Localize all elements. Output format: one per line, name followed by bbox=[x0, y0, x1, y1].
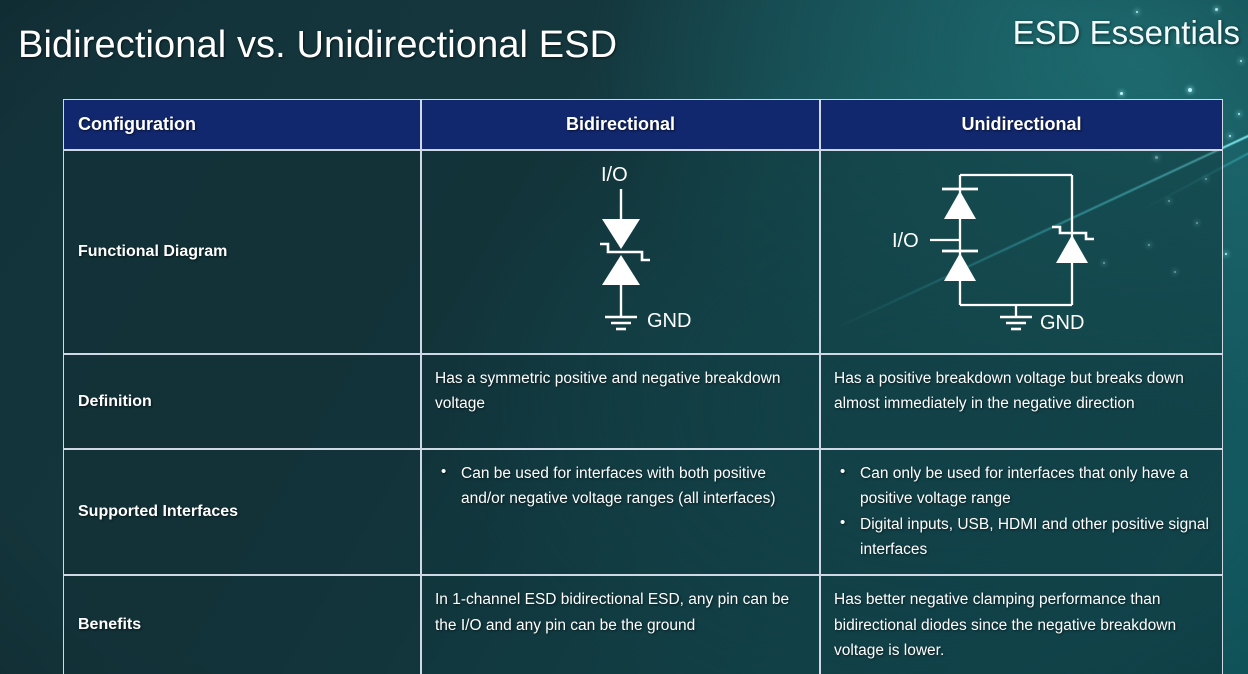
table-row: Benefits In 1-channel ESD bidirectional … bbox=[63, 575, 1223, 674]
row-label-functional-diagram: Functional Diagram bbox=[63, 150, 421, 354]
column-header-unidirectional: Unidirectional bbox=[820, 99, 1223, 150]
list-item: Can only be used for interfaces that onl… bbox=[834, 461, 1209, 511]
table-row: Supported Interfaces Can be used for int… bbox=[63, 449, 1223, 575]
comparison-table: Configuration Bidirectional Unidirection… bbox=[63, 99, 1223, 663]
cell-definition-bidirectional: Has a symmetric positive and negative br… bbox=[421, 354, 820, 449]
gnd-label-unidirectional: GND bbox=[1040, 312, 1084, 334]
column-header-bidirectional: Bidirectional bbox=[421, 99, 820, 150]
star-dot-icon bbox=[1229, 135, 1231, 137]
star-dot-icon bbox=[1238, 113, 1240, 115]
cell-benefits-bidirectional: In 1-channel ESD bidirectional ESD, any … bbox=[421, 575, 820, 674]
gnd-label-bidirectional: GND bbox=[647, 310, 691, 332]
unidirectional-rail-clamp-diagram: I/O bbox=[882, 157, 1162, 347]
row-label-supported-interfaces: Supported Interfaces bbox=[63, 449, 421, 575]
cell-supported-interfaces-bidirectional: Can be used for interfaces with both pos… bbox=[421, 449, 820, 575]
cell-supported-interfaces-unidirectional: Can only be used for interfaces that onl… bbox=[820, 449, 1223, 575]
slide-header: Bidirectional vs. Unidirectional ESD ESD… bbox=[0, 0, 1248, 92]
cell-unidirectional-diagram: I/O bbox=[820, 150, 1223, 354]
list-item: Digital inputs, USB, HDMI and other posi… bbox=[834, 512, 1209, 562]
bullet-list: Can be used for interfaces with both pos… bbox=[435, 461, 806, 511]
star-dot-icon bbox=[1120, 92, 1123, 95]
cell-definition-unidirectional: Has a positive breakdown voltage but bre… bbox=[820, 354, 1223, 449]
io-label-unidirectional: I/O bbox=[892, 230, 919, 252]
row-label-definition: Definition bbox=[63, 354, 421, 449]
star-dot-icon bbox=[1225, 253, 1227, 255]
table-row: Functional Diagram I/O bbox=[63, 150, 1223, 354]
brand-label: ESD Essentials bbox=[1013, 14, 1240, 52]
io-label-bidirectional: I/O bbox=[601, 164, 628, 186]
cell-benefits-unidirectional: Has better negative clamping performance… bbox=[820, 575, 1223, 674]
cell-bidirectional-diagram: I/O bbox=[421, 150, 820, 354]
column-header-configuration: Configuration bbox=[63, 99, 421, 150]
list-item: Can be used for interfaces with both pos… bbox=[435, 461, 806, 511]
bullet-list: Can only be used for interfaces that onl… bbox=[834, 461, 1209, 562]
bidirectional-tvs-diagram: I/O bbox=[501, 157, 741, 347]
row-label-benefits: Benefits bbox=[63, 575, 421, 674]
page-title: Bidirectional vs. Unidirectional ESD bbox=[18, 24, 617, 67]
table-row: Definition Has a symmetric positive and … bbox=[63, 354, 1223, 449]
table-header-row: Configuration Bidirectional Unidirection… bbox=[63, 99, 1223, 150]
